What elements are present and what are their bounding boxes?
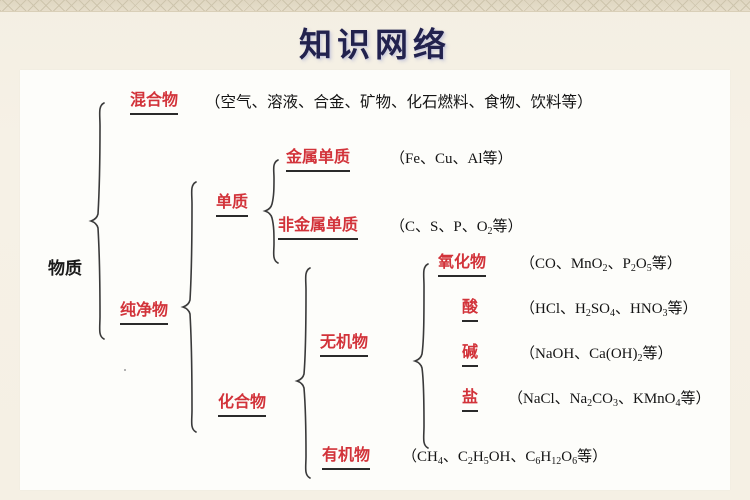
node-base[interactable]: 碱	[462, 345, 478, 367]
acid-examples: （HCl、H2SO4、HNO3等）	[520, 302, 698, 319]
node-acid[interactable]: 酸	[462, 300, 478, 322]
node-substance[interactable]: 物质	[48, 260, 82, 277]
node-element-underline	[216, 215, 248, 217]
organic-examples: （CH4、C2H5OH、C6H12O6等）	[402, 450, 607, 467]
page-title: 知识网络	[0, 18, 750, 66]
node-salt[interactable]: 盐	[462, 390, 478, 412]
node-metal-element-underline	[286, 170, 350, 172]
node-compound[interactable]: 化合物	[218, 395, 266, 417]
node-nonmetal-element[interactable]: 非金属单质	[278, 218, 358, 240]
content-panel: 物质 混合物 （空气、溶液、合金、矿物、化石燃料、食物、饮料等） 纯净物 单质 …	[20, 70, 730, 490]
node-mixture-underline	[130, 113, 178, 115]
node-element[interactable]: 单质	[216, 195, 248, 217]
mixture-examples: （空气、溶液、合金、矿物、化石燃料、食物、饮料等）	[205, 95, 593, 111]
node-organic[interactable]: 有机物	[322, 448, 370, 470]
node-salt-underline	[462, 410, 478, 412]
node-organic-label: 有机物	[322, 447, 370, 464]
node-oxide[interactable]: 氧化物	[438, 255, 486, 277]
node-pure-substance-label: 纯净物	[120, 302, 168, 319]
node-compound-label: 化合物	[218, 394, 266, 411]
decorative-zigzag-band	[0, 0, 750, 11]
node-acid-underline	[462, 320, 478, 322]
metal-formula-text: （Fe、Cu、Al等）	[390, 151, 513, 167]
metal-element-examples: （Fe、Cu、Al等）	[390, 152, 513, 167]
diagram-canvas: 物质 混合物 （空气、溶液、合金、矿物、化石燃料、食物、饮料等） 纯净物 单质 …	[20, 70, 730, 490]
slide-root: 知识网络 物质	[0, 0, 750, 500]
nonmetal-element-examples: （C、S、P、O2等）	[390, 220, 523, 237]
band-divider	[0, 11, 750, 12]
node-metal-element[interactable]: 金属单质	[286, 150, 350, 172]
node-compound-underline	[218, 415, 266, 417]
oxide-examples: （CO、MnO2、P2O5等）	[520, 257, 682, 274]
node-oxide-label: 氧化物	[438, 254, 486, 271]
node-metal-element-label: 金属单质	[286, 149, 350, 166]
base-examples: （NaOH、Ca(OH)2等）	[520, 347, 673, 364]
node-base-underline	[462, 365, 478, 367]
node-inorganic[interactable]: 无机物	[320, 335, 368, 357]
node-salt-label: 盐	[462, 389, 478, 406]
node-mixture[interactable]: 混合物	[130, 93, 178, 115]
node-organic-underline	[322, 468, 370, 470]
node-element-label: 单质	[216, 194, 248, 211]
node-inorganic-underline	[320, 355, 368, 357]
salt-examples: （NaCl、Na2CO3、KMnO4等）	[508, 392, 711, 409]
node-base-label: 碱	[462, 344, 478, 361]
node-pure-substance[interactable]: 纯净物	[120, 303, 168, 325]
stray-dot	[124, 369, 126, 371]
node-substance-label: 物质	[48, 259, 82, 278]
diagram-connectors	[20, 70, 730, 490]
node-mixture-label: 混合物	[130, 92, 178, 109]
node-inorganic-label: 无机物	[320, 334, 368, 351]
node-pure-substance-underline	[120, 323, 168, 325]
node-oxide-underline	[438, 275, 486, 277]
node-nonmetal-element-label: 非金属单质	[278, 217, 358, 234]
node-nonmetal-element-underline	[278, 238, 358, 240]
node-acid-label: 酸	[462, 299, 478, 316]
